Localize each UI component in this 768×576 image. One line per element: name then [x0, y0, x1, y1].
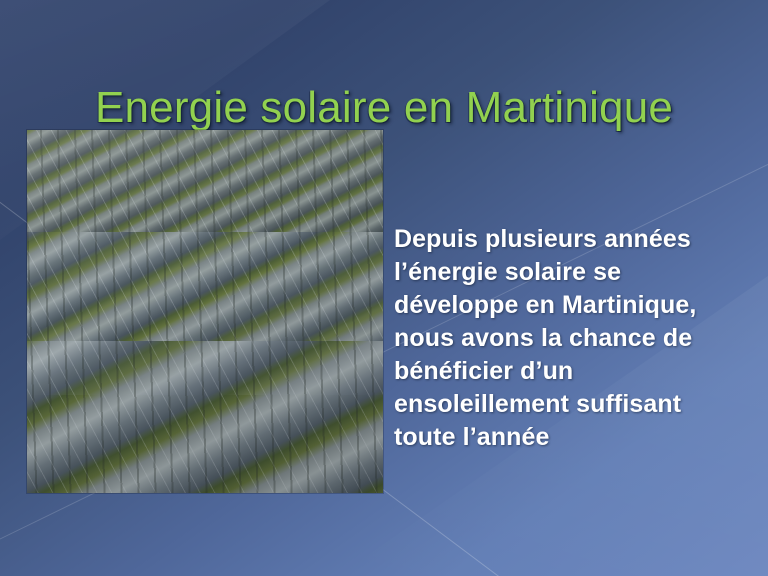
photo-lighting-overlay — [27, 130, 383, 493]
slide-body-text: Depuis plusieurs années l’énergie solair… — [394, 223, 724, 454]
presentation-slide: Energie solaire en Martinique Depuis plu… — [0, 0, 768, 576]
slide-title: Energie solaire en Martinique — [0, 81, 768, 135]
solar-panels-photo — [27, 130, 383, 493]
